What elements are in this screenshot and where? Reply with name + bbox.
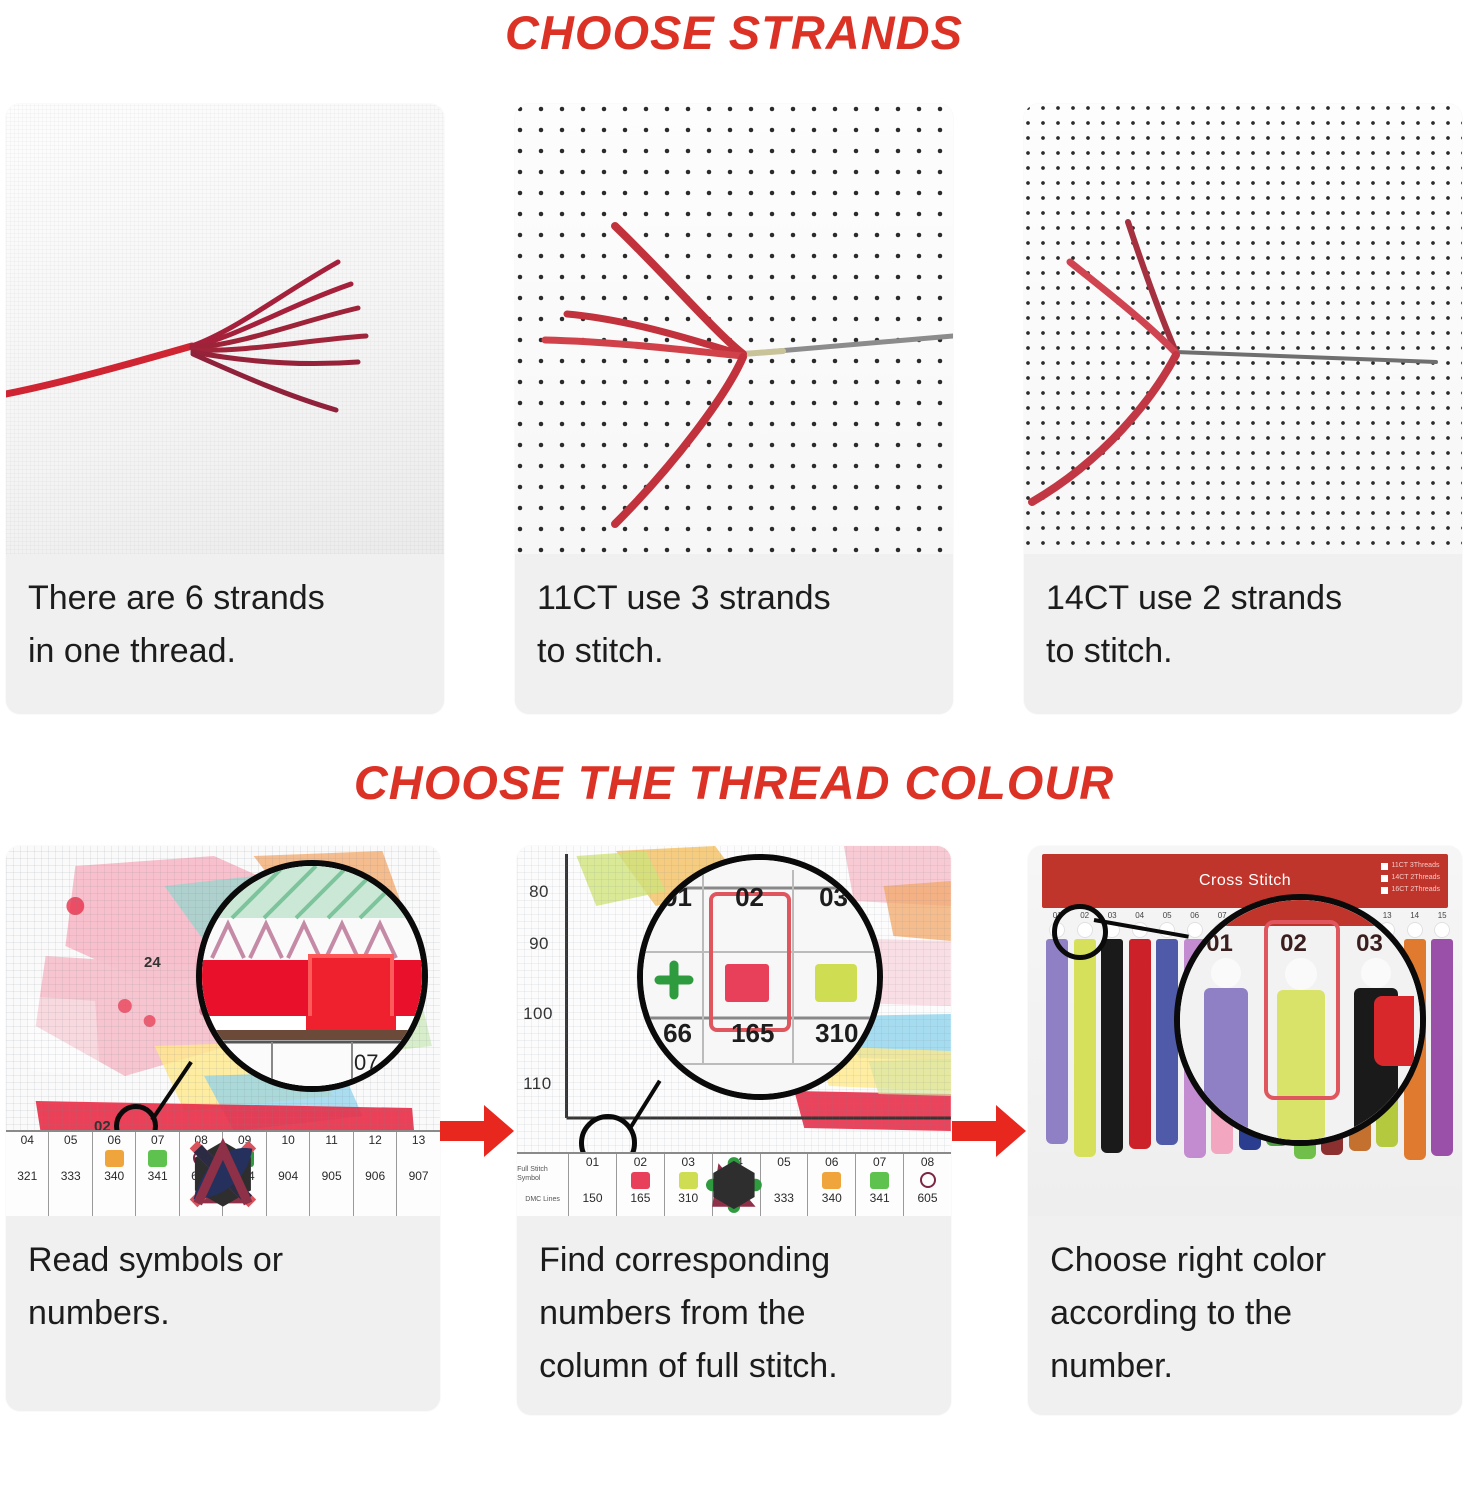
caption-11ct: 11CT use 3 strands to stitch.: [515, 554, 953, 714]
thread-illustration-six-strands: [6, 104, 444, 554]
card-14ct-two-strands: 14CT use 2 strands to stitch.: [1024, 104, 1462, 714]
caption-read-symbols: Read symbols or numbers.: [6, 1216, 440, 1411]
checkbox-icon: [1381, 887, 1388, 894]
skein: 03: [1099, 912, 1125, 1153]
section-heading-choose-thread-colour: CHOOSE THE THREAD COLOUR: [0, 750, 1468, 812]
pack-options: 11CT 3Threads 14CT 2Threads 16CT 2Thread…: [1381, 860, 1440, 896]
axis-label-100: 100: [523, 1004, 553, 1024]
caption-find-numbers: Find corresponding numbers from the colu…: [517, 1216, 951, 1415]
magnified-column-01: 01: [663, 882, 692, 913]
pack-option-label: 14CT 2Threads: [1391, 872, 1440, 884]
magnified-code-66: 66: [663, 1018, 692, 1049]
caption-six-strands: There are 6 strands in one thread.: [6, 554, 444, 714]
magnified-skein-01: [1198, 958, 1254, 1140]
pack-option-label: 11CT 3Threads: [1391, 860, 1439, 872]
card-six-strands: There are 6 strands in one thread.: [6, 104, 444, 714]
section-heading-choose-strands: CHOOSE STRANDS: [0, 0, 1468, 62]
magnified-column-02: 02: [735, 882, 764, 913]
magnifier-lens-skeins: 01 02 03: [1174, 894, 1426, 1146]
needle-and-two-strands: [1024, 104, 1462, 554]
magnified-skein-red-edge: [1374, 996, 1414, 1066]
right-arrow-2: [951, 1096, 1028, 1166]
photo-pattern-chart-columns: 80 90 100 110: [517, 846, 951, 1216]
floss-skein: [1129, 939, 1151, 1149]
symbol-legend-1: 04 321 05 333 06 340: [6, 1130, 440, 1216]
magnified-skein-label-03: 03: [1356, 930, 1383, 958]
arrow-icon: [952, 1101, 1028, 1161]
magnified-skein-label-02: 02: [1280, 930, 1307, 958]
arrow-icon: [440, 1101, 516, 1161]
magnified-column-03: 03: [819, 882, 848, 913]
caption-choose-color: Choose right color according to the numb…: [1028, 1216, 1462, 1415]
floss-skein: [1101, 939, 1123, 1153]
magnifier-lens-symbols: 6 07: [196, 860, 428, 1092]
checkbox-icon: [1381, 863, 1388, 870]
magnifier-lens-columns: 01 02 03 66 165 310: [637, 854, 883, 1100]
needle-and-three-strands: [515, 104, 953, 554]
skein: 04: [1127, 912, 1153, 1149]
legend-cell: 05 333: [761, 1154, 809, 1216]
floss-skein: [1046, 939, 1068, 1144]
pack-option-row: 14CT 2Threads: [1381, 872, 1440, 884]
photo-floss-card: Cross Stitch 11CT 3Threads 14CT 2Threads…: [1028, 846, 1462, 1216]
pack-option-label: 16CT 2Threads: [1391, 884, 1440, 896]
skein-hole: [1435, 923, 1449, 937]
card-read-symbols: 24 02: [6, 846, 440, 1411]
magnifier-focus-circle-3: [1052, 904, 1108, 960]
pack-title: Cross Stitch: [1199, 872, 1291, 890]
axis-label-90: 90: [529, 934, 549, 954]
photo-11ct-aida: [515, 104, 953, 554]
right-arrow-1: [440, 1096, 517, 1166]
skein-number: 04: [1127, 912, 1153, 920]
checkbox-icon: [1381, 875, 1388, 882]
symbol-legend-2: Full Stitch Symbol DMC Lines 01 150 02 1…: [517, 1152, 951, 1216]
photo-14ct-aida: [1024, 104, 1462, 554]
photo-pattern-chart-symbols: 24 02: [6, 846, 440, 1216]
strands-card-row: There are 6 strands in one thread. 11CT …: [0, 104, 1468, 714]
pack-option-row: 16CT 2Threads: [1381, 884, 1440, 896]
magnified-skein-label-01: 01: [1206, 930, 1233, 958]
skein-number: 15: [1429, 912, 1455, 920]
magnified-code-310: 310: [815, 1018, 858, 1049]
skein: 15: [1429, 912, 1455, 1156]
colour-card-row: 24 02: [0, 846, 1468, 1415]
skein-number: 05: [1154, 912, 1180, 920]
caption-14ct: 14CT use 2 strands to stitch.: [1024, 554, 1462, 714]
card-11ct-three-strands: 11CT use 3 strands to stitch.: [515, 104, 953, 714]
magnified-code-165: 165: [731, 1018, 774, 1049]
floss-skein: [1431, 939, 1453, 1156]
photo-six-strands: [6, 104, 444, 554]
magnified-cell-label-left: 6: [224, 1050, 236, 1076]
floss-skein: [1156, 939, 1178, 1145]
axis-label-80: 80: [529, 882, 549, 902]
chart-mark-24: 24: [144, 954, 161, 971]
axis-label-110: 110: [523, 1074, 552, 1094]
card-find-numbers: 80 90 100 110: [517, 846, 951, 1415]
legend-cell: 13 907: [397, 1132, 439, 1216]
floss-skein: [1074, 939, 1096, 1157]
card-choose-color: Cross Stitch 11CT 3Threads 14CT 2Threads…: [1028, 846, 1462, 1415]
magnified-cell-label-07: 07: [354, 1050, 378, 1076]
pack-option-row: 11CT 3Threads: [1381, 860, 1440, 872]
